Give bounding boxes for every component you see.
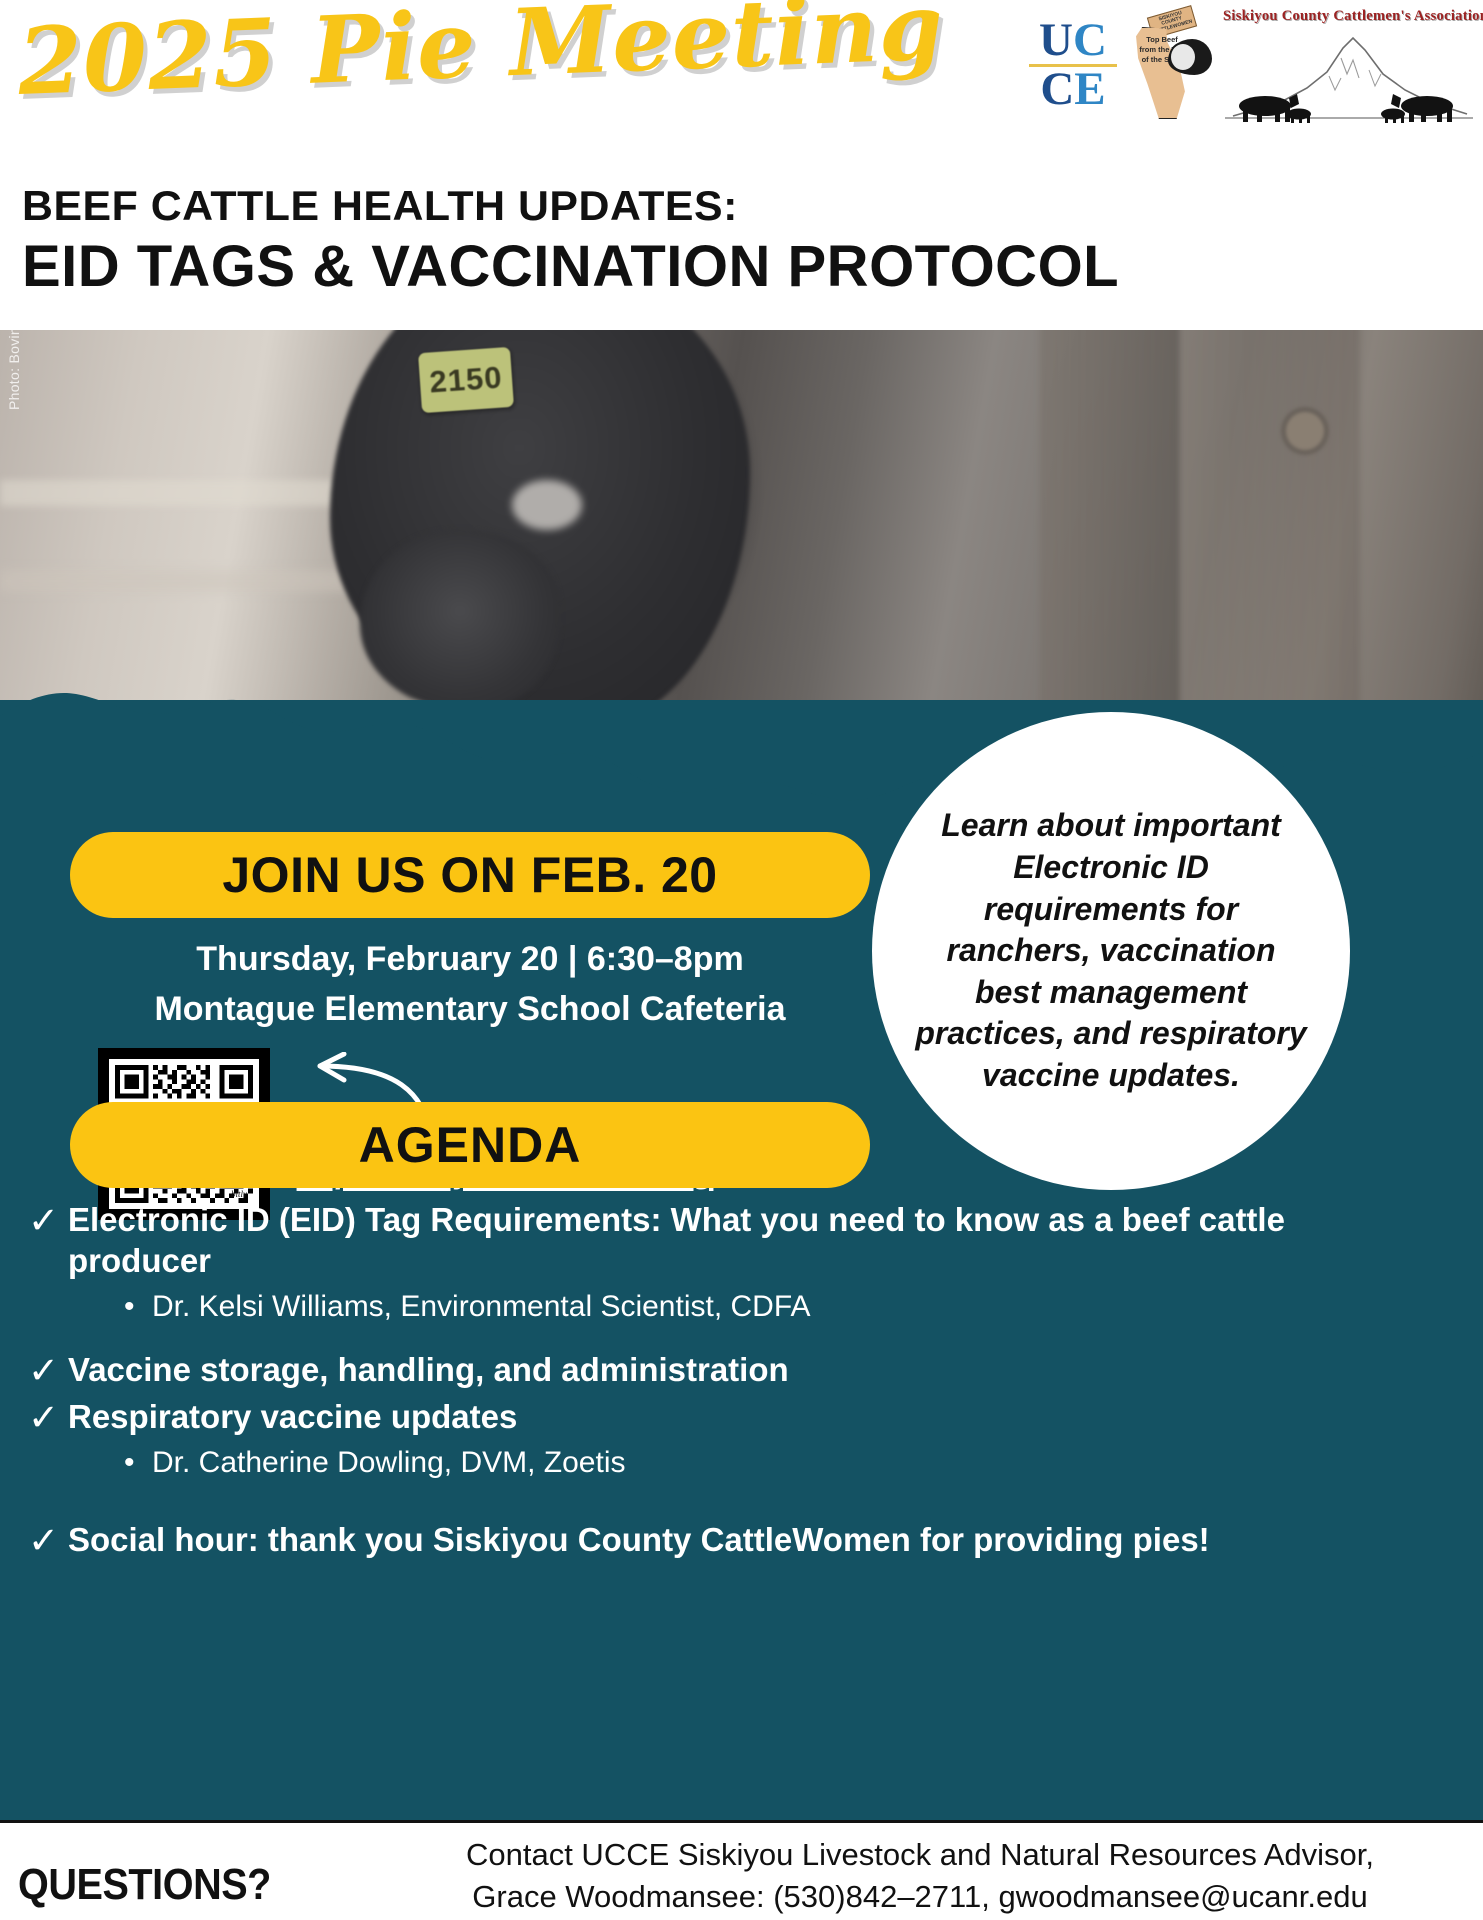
ucce-letter-c-bottom: C <box>1040 68 1074 111</box>
ear-tag-number: 2150 <box>418 347 514 413</box>
agenda-list: ✓ Electronic ID (EID) Tag Requirements: … <box>28 1200 1468 1567</box>
bullet-icon: • <box>124 1446 152 1479</box>
agenda-spacer <box>28 1480 1468 1520</box>
cow-eye <box>512 480 582 530</box>
agenda-subitem: • Dr. Kelsi Williams, Environmental Scie… <box>124 1290 1468 1324</box>
mount-shasta-icon <box>1223 28 1475 124</box>
highlight-circle: Learn about important Electronic ID requ… <box>872 712 1350 1190</box>
qr-brand-label: bitly <box>231 1189 247 1199</box>
ucce-letter-e: E <box>1074 68 1105 111</box>
flyer-page: 2150 Photo: Bovine Veterinarian 2025 Pie… <box>0 0 1483 1920</box>
siskiyou-cattlemen-badge-icon: SISKIYOU COUNTY CATTLEWOMEN Top Beef fro… <box>1131 9 1209 121</box>
agenda-item-text: Respiratory vaccine updates <box>68 1397 517 1438</box>
join-us-banner: JOIN US ON FEB. 20 <box>70 832 870 918</box>
agenda-item-text: Electronic ID (EID) Tag Requirements: Wh… <box>68 1200 1398 1282</box>
agenda-subitem-text: Dr. Catherine Dowling, DVM, Zoetis <box>152 1446 626 1480</box>
check-icon: ✓ <box>28 1352 68 1389</box>
page-title-script: 2025 Pie Meeting <box>16 0 945 108</box>
cattlemens-association-title: Siskiyou County Cattlemen's Association <box>1223 8 1475 25</box>
check-icon: ✓ <box>28 1202 68 1239</box>
agenda-item-text: Vaccine storage, handling, and administr… <box>68 1350 789 1391</box>
ucce-top-row: U C <box>1039 19 1107 62</box>
agenda-item: ✓ Vaccine storage, handling, and adminis… <box>28 1350 1468 1391</box>
subtitle-line-1: BEEF CATTLE HEALTH UPDATES: <box>22 182 738 230</box>
agenda-item-text: Social hour: thank you Siskiyou County C… <box>68 1520 1210 1561</box>
header: 2025 Pie Meeting U C C E SISKIYOU COUNTY… <box>0 0 1483 330</box>
bullet-icon: • <box>124 1290 152 1323</box>
agenda-spacer <box>28 1324 1468 1350</box>
ucce-bottom-row: C E <box>1040 68 1105 111</box>
check-icon: ✓ <box>28 1399 68 1436</box>
ucce-logo: U C C E <box>1029 19 1117 110</box>
event-datetime: Thursday, February 20 | 6:30–8pm <box>70 940 870 979</box>
barn-bolt <box>1286 412 1324 450</box>
logo-row: U C C E SISKIYOU COUNTY CATTLEWOMEN Top … <box>1029 6 1475 124</box>
badge-cow-head-icon <box>1168 39 1212 75</box>
check-icon: ✓ <box>28 1522 68 1559</box>
agenda-item: ✓ Electronic ID (EID) Tag Requirements: … <box>28 1200 1468 1282</box>
contact-line-1: Contact UCCE Siskiyou Livestock and Natu… <box>370 1834 1470 1876</box>
cattlemens-association-logo: Siskiyou County Cattlemen's Association <box>1223 6 1475 124</box>
body-content: JOIN US ON FEB. 20 Thursday, February 20… <box>0 700 1483 1820</box>
footer-divider <box>0 1820 1483 1823</box>
agenda-subitem: • Dr. Catherine Dowling, DVM, Zoetis <box>124 1446 1468 1480</box>
event-location: Montague Elementary School Cafeteria <box>70 990 870 1029</box>
subtitle-line-2: EID TAGS & VACCINATION PROTOCOL <box>22 233 1119 300</box>
ucce-letter-u: U <box>1039 19 1073 62</box>
agenda-banner: AGENDA <box>70 1102 870 1188</box>
highlight-text: Learn about important Electronic ID requ… <box>911 805 1311 1096</box>
ear-tag: 2150 <box>418 347 514 413</box>
agenda-item: ✓ Social hour: thank you Siskiyou County… <box>28 1520 1468 1561</box>
agenda-subitem-text: Dr. Kelsi Williams, Environmental Scient… <box>152 1290 811 1324</box>
contact-block: Contact UCCE Siskiyou Livestock and Natu… <box>370 1834 1470 1918</box>
footer: QUESTIONS? Contact UCCE Siskiyou Livesto… <box>0 1820 1483 1920</box>
ucce-letter-c-top: C <box>1073 19 1107 62</box>
questions-label: QUESTIONS? <box>18 1860 271 1910</box>
contact-line-2: Grace Woodmansee: (530)842–2711, gwoodma… <box>370 1876 1470 1918</box>
agenda-item: ✓ Respiratory vaccine updates <box>28 1397 1468 1438</box>
